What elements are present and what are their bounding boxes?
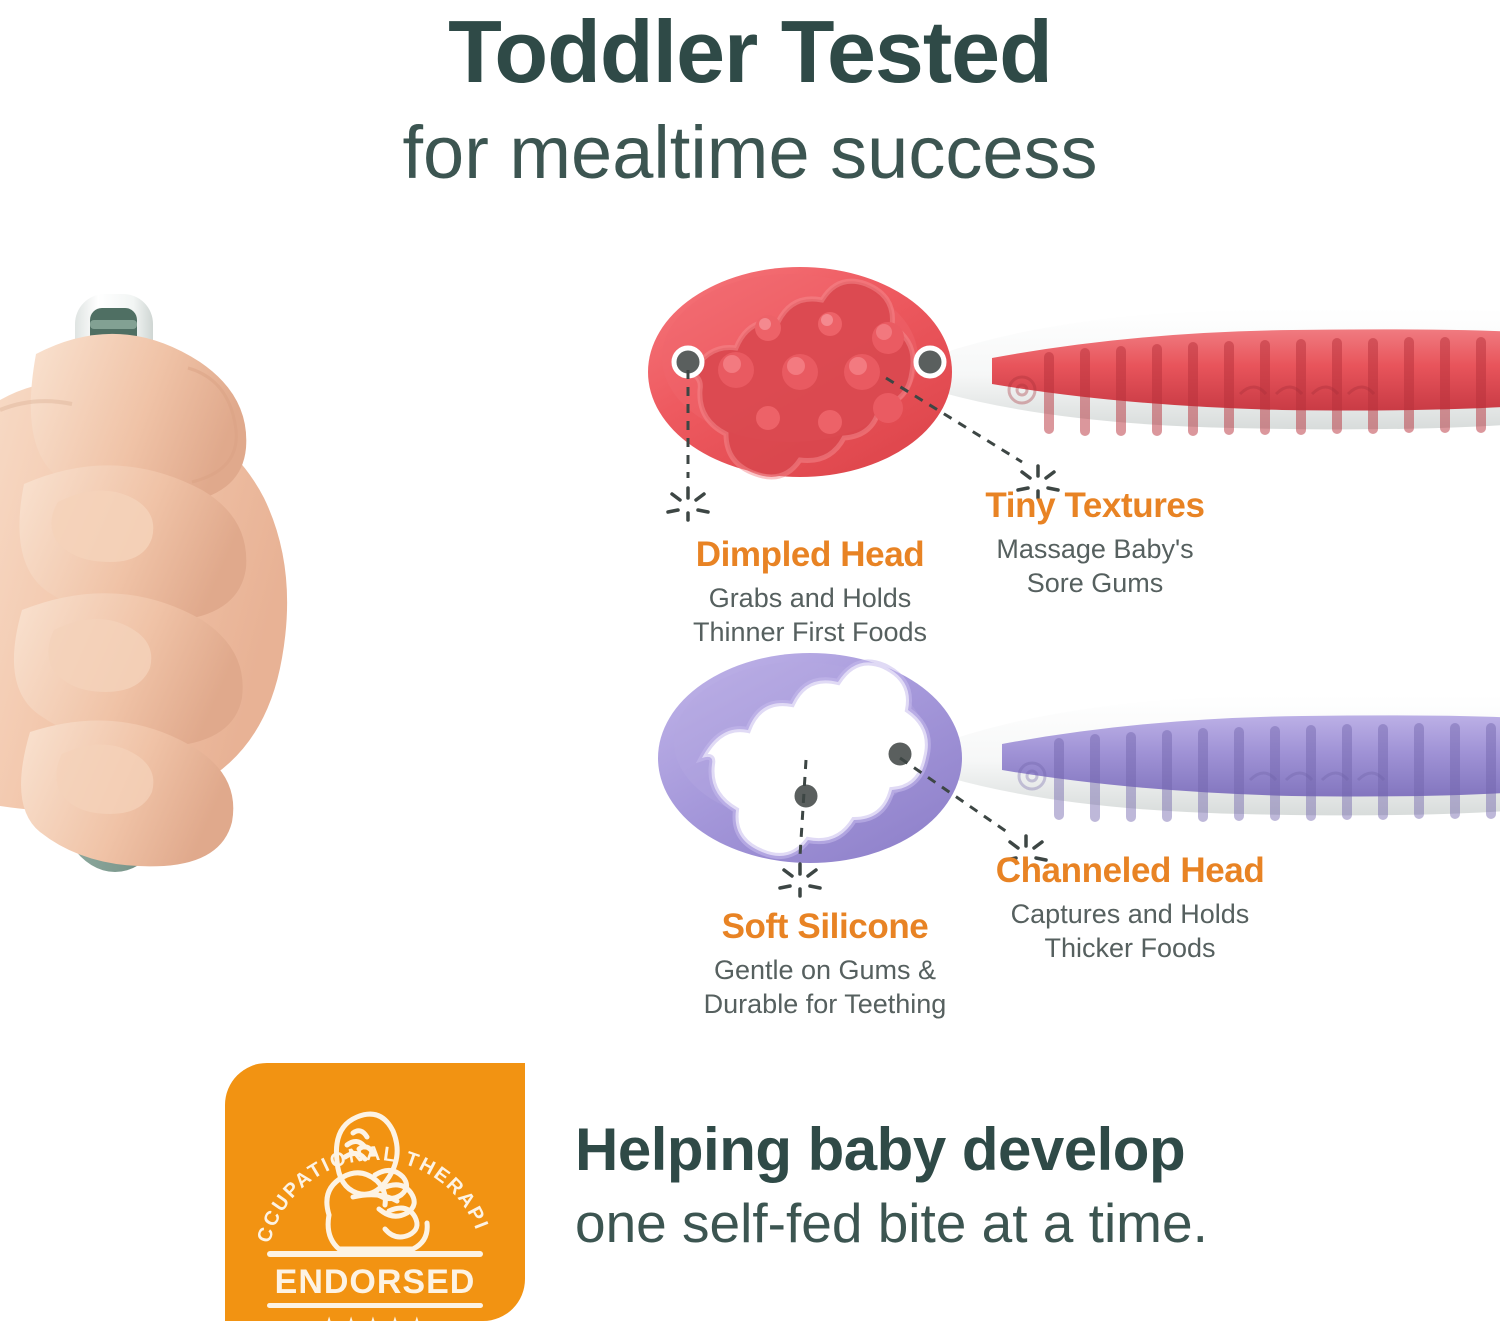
callout-description-line-1: Captures and Holds: [920, 897, 1340, 932]
badge-stars: ★★★★★: [320, 1312, 430, 1321]
callout-title: Channeled Head: [920, 852, 1340, 891]
page-title: Toddler Tested: [0, 0, 1500, 96]
callout-tiny-textures: Tiny Textures Massage Baby's Sore Gums: [905, 487, 1285, 601]
divider-bottom: [267, 1303, 483, 1308]
callout-channeled-head: Channeled Head Captures and Holds Thicke…: [920, 852, 1340, 966]
callout-title: Tiny Textures: [905, 487, 1285, 526]
footer-subtitle: one self-fed bite at a time.: [575, 1193, 1375, 1254]
header-block: Toddler Tested for mealtime success: [0, 0, 1500, 195]
footer-block: Helping baby develop one self-fed bite a…: [575, 1118, 1375, 1254]
divider-top: [267, 1251, 483, 1257]
burst-icon: [780, 864, 820, 896]
leader-line-tiny-textures: [880, 370, 1080, 500]
badge-endorsed-label: ENDORSED: [275, 1263, 476, 1301]
leader-line-soft-silicone: [760, 760, 880, 900]
callout-description-line-2: Thinner First Foods: [600, 615, 1020, 650]
callout-description-line-2: Sore Gums: [905, 566, 1285, 601]
footer-title: Helping baby develop: [575, 1118, 1375, 1181]
callout-description-line-2: Thicker Foods: [920, 931, 1340, 966]
infographic-canvas: Toddler Tested for mealtime success: [0, 0, 1500, 1328]
page-subtitle: for mealtime success: [0, 110, 1500, 195]
toddler-hand-holding-spoon-photo: [0, 280, 560, 910]
leader-line-dimpled-head: [660, 370, 800, 520]
callout-description-line-1: Massage Baby's: [905, 532, 1285, 567]
burst-icon: [668, 488, 708, 520]
hand-holding-spoon-icon: [327, 1114, 427, 1249]
callout-description-line-2: Durable for Teething: [625, 987, 1025, 1022]
occupational-therapist-endorsed-badge: OCCUPATIONAL THERAPIST ENDORSED ★★★★★: [225, 1063, 525, 1321]
